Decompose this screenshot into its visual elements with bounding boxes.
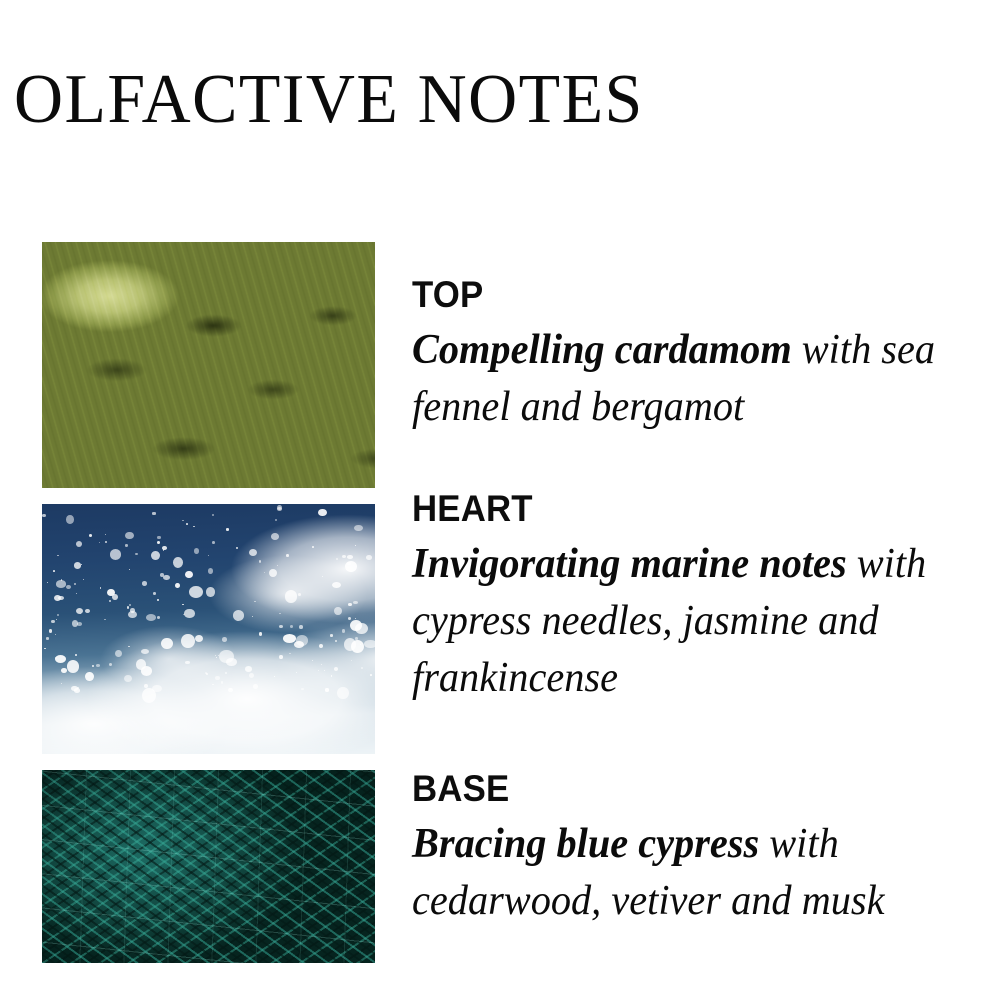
ocean-droplet — [157, 541, 160, 544]
ocean-droplet — [318, 509, 327, 517]
ocean-droplet — [96, 664, 100, 667]
ocean-droplet — [269, 569, 277, 577]
ocean-droplet — [331, 675, 333, 676]
ocean-droplet — [274, 676, 275, 677]
ocean-droplet — [206, 587, 214, 596]
ocean-droplet — [324, 670, 325, 671]
ocean-droplet — [76, 593, 77, 594]
ocean-droplet — [285, 590, 297, 602]
note-lead-heart: Invigorating marine notes — [412, 541, 847, 587]
ocean-droplet — [345, 561, 358, 572]
ocean-droplet — [277, 507, 283, 511]
ocean-droplet — [298, 593, 302, 596]
ocean-droplet — [348, 617, 351, 620]
ocean-droplet — [127, 606, 129, 608]
ocean-droplet — [330, 634, 334, 637]
ocean-droplet — [182, 520, 184, 522]
note-image-cypress — [42, 770, 375, 963]
ocean-droplet — [124, 675, 132, 683]
ocean-droplet — [321, 664, 322, 665]
note-label-heart: HEART — [412, 488, 965, 530]
ocean-droplet — [104, 619, 106, 620]
ocean-droplet — [342, 629, 345, 632]
note-image-ocean-splash — [42, 504, 375, 754]
ocean-droplet — [46, 637, 49, 639]
ocean-droplet — [277, 565, 278, 566]
ocean-droplet — [75, 654, 77, 655]
ocean-droplet — [366, 555, 372, 560]
ocean-droplet — [182, 604, 184, 605]
ocean-droplet — [109, 600, 111, 603]
ocean-droplet — [53, 570, 56, 572]
ocean-droplet — [67, 660, 80, 673]
ocean-droplet — [350, 620, 362, 631]
ocean-droplet — [125, 544, 128, 546]
ocean-droplet — [212, 684, 214, 685]
ocean-droplet — [125, 532, 134, 540]
ocean-droplet — [222, 637, 228, 642]
ocean-droplet — [66, 515, 74, 523]
ocean-droplet — [279, 625, 283, 628]
ocean-droplet — [173, 557, 184, 568]
ocean-droplet — [370, 674, 372, 676]
note-image-cardamom — [42, 242, 375, 488]
note-description-base: Bracing blue cypress with cedarwood, vet… — [412, 816, 976, 930]
ocean-droplet — [279, 655, 284, 659]
note-lead-base: Bracing blue cypress — [412, 821, 759, 867]
ocean-droplet — [92, 665, 94, 667]
ocean-droplet — [355, 637, 358, 640]
ocean-droplet — [184, 609, 194, 617]
ocean-droplet — [57, 555, 59, 556]
note-block-base: BASE Bracing blue cypress with cedarwood… — [412, 768, 1000, 930]
ocean-droplet — [226, 528, 229, 530]
ocean-droplet — [301, 688, 304, 690]
ocean-droplet — [56, 580, 67, 587]
ocean-droplet — [44, 648, 45, 649]
page-title: OLFACTIVE NOTES — [14, 65, 644, 135]
note-lead-top: Compelling cardamom — [412, 327, 792, 373]
ocean-droplet — [351, 640, 364, 653]
ocean-droplet — [336, 558, 339, 561]
ocean-droplet — [212, 514, 214, 516]
ocean-droplet — [294, 641, 304, 648]
ocean-droplet — [318, 670, 319, 671]
ocean-droplet — [105, 534, 106, 535]
ocean-droplet-layer — [42, 504, 375, 754]
ocean-droplet — [334, 667, 338, 671]
ocean-droplet — [157, 536, 160, 540]
ocean-droplet — [135, 553, 138, 555]
ocean-droplet — [128, 646, 129, 647]
ocean-droplet — [249, 673, 255, 678]
ocean-droplet — [66, 585, 71, 590]
ocean-droplet — [57, 614, 59, 616]
ocean-droplet — [157, 599, 159, 601]
ocean-droplet — [136, 659, 147, 670]
ocean-droplet — [189, 586, 203, 598]
ocean-droplet — [58, 596, 64, 600]
ocean-droplet — [325, 688, 328, 691]
note-block-heart: HEART Invigorating marine notes with cyp… — [412, 488, 1000, 707]
ocean-droplet — [208, 555, 209, 556]
ocean-droplet — [141, 649, 149, 654]
ocean-droplet — [236, 547, 238, 549]
ocean-droplet — [364, 640, 375, 648]
ocean-droplet — [355, 545, 357, 546]
ocean-droplet — [212, 541, 214, 544]
ocean-droplet — [312, 546, 314, 548]
ocean-droplet — [161, 638, 173, 649]
ocean-droplet — [208, 568, 214, 574]
ocean-droplet — [109, 663, 112, 666]
ocean-droplet — [221, 681, 224, 684]
ocean-droplet — [312, 660, 313, 661]
ocean-droplet — [193, 526, 194, 528]
ocean-droplet — [283, 634, 296, 643]
ocean-droplet — [185, 571, 193, 578]
ocean-droplet — [83, 579, 85, 581]
ocean-droplet — [245, 666, 252, 672]
ocean-droplet — [89, 534, 92, 537]
ocean-droplet — [81, 564, 82, 565]
ocean-droplet — [335, 640, 337, 642]
ocean-droplet — [296, 672, 298, 673]
note-description-top: Compelling cardamom with sea fennel and … — [412, 322, 976, 436]
olfactive-notes-page: OLFACTIVE NOTES TOP Compelling cardamom … — [0, 0, 1000, 1000]
ocean-droplet — [115, 650, 122, 657]
ocean-droplet — [264, 572, 265, 573]
ocean-droplet — [334, 607, 342, 615]
ocean-droplet — [74, 562, 81, 568]
ocean-droplet — [76, 541, 82, 547]
ocean-droplet — [233, 610, 245, 621]
ocean-droplet — [348, 603, 351, 606]
ocean-droplet — [205, 672, 207, 674]
ocean-droplet — [175, 583, 180, 588]
ocean-droplet — [49, 629, 53, 633]
ocean-droplet — [194, 548, 200, 554]
ocean-droplet — [219, 650, 233, 663]
ocean-droplet — [322, 576, 323, 577]
ocean-droplet — [42, 514, 46, 517]
ocean-droplet — [195, 635, 203, 642]
ocean-droplet — [290, 625, 293, 629]
ocean-droplet — [76, 608, 84, 614]
ocean-droplet — [347, 555, 352, 559]
ocean-droplet — [85, 609, 90, 613]
ocean-droplet — [153, 592, 156, 595]
ocean-droplet — [107, 589, 115, 596]
note-label-base: BASE — [412, 768, 965, 810]
ocean-droplet — [259, 560, 262, 563]
note-description-heart: Invigorating marine notes with cypress n… — [412, 536, 976, 707]
ocean-droplet — [254, 601, 256, 602]
ocean-droplet — [142, 581, 147, 585]
ocean-droplet — [74, 583, 76, 585]
ocean-droplet — [99, 542, 100, 543]
ocean-droplet — [299, 625, 303, 629]
ocean-droplet — [146, 614, 156, 621]
ocean-droplet — [51, 620, 55, 623]
ocean-droplet — [354, 525, 363, 532]
ocean-droplet — [105, 541, 106, 542]
ocean-droplet — [319, 644, 323, 648]
ocean-droplet — [152, 685, 162, 692]
note-block-top: TOP Compelling cardamom with sea fennel … — [412, 274, 1000, 436]
ocean-droplet — [85, 672, 93, 681]
ocean-droplet — [152, 512, 155, 514]
ocean-droplet — [225, 672, 227, 674]
note-image-column — [2, 226, 375, 963]
ocean-droplet — [72, 620, 79, 627]
ocean-droplet — [332, 582, 341, 588]
ocean-droplet — [252, 616, 253, 617]
ocean-droplet — [100, 587, 101, 588]
ocean-droplet — [337, 687, 348, 699]
ocean-droplet — [55, 634, 56, 635]
ocean-droplet — [110, 549, 121, 560]
ocean-droplet — [128, 611, 137, 619]
ocean-droplet — [215, 676, 219, 680]
ocean-droplet — [279, 613, 281, 615]
ocean-droplet — [289, 653, 291, 654]
ocean-droplet — [286, 554, 289, 557]
ocean-droplet — [186, 523, 188, 525]
ocean-droplet — [249, 549, 257, 556]
ocean-droplet — [253, 684, 258, 689]
ocean-droplet — [275, 519, 278, 522]
ocean-droplet — [151, 551, 160, 561]
ocean-droplet — [185, 661, 189, 664]
ocean-droplet — [47, 582, 48, 583]
ocean-droplet — [353, 601, 358, 604]
ocean-droplet — [216, 657, 217, 658]
ocean-droplet — [181, 634, 194, 648]
ocean-droplet — [163, 575, 170, 580]
ocean-droplet — [61, 683, 62, 684]
ocean-droplet — [259, 632, 262, 635]
ocean-droplet — [129, 604, 131, 606]
ocean-droplet — [342, 555, 346, 558]
ocean-droplet — [351, 660, 352, 661]
ocean-droplet — [129, 569, 130, 570]
ocean-droplet — [56, 619, 57, 620]
cardamom-depth-blur — [42, 242, 375, 488]
ocean-droplet — [61, 668, 67, 673]
ocean-droplet — [157, 616, 160, 619]
ocean-droplet — [215, 655, 216, 656]
cypress-vignette — [42, 770, 375, 963]
ocean-droplet — [361, 667, 363, 669]
note-label-top: TOP — [412, 274, 965, 316]
ocean-droplet — [271, 533, 279, 540]
